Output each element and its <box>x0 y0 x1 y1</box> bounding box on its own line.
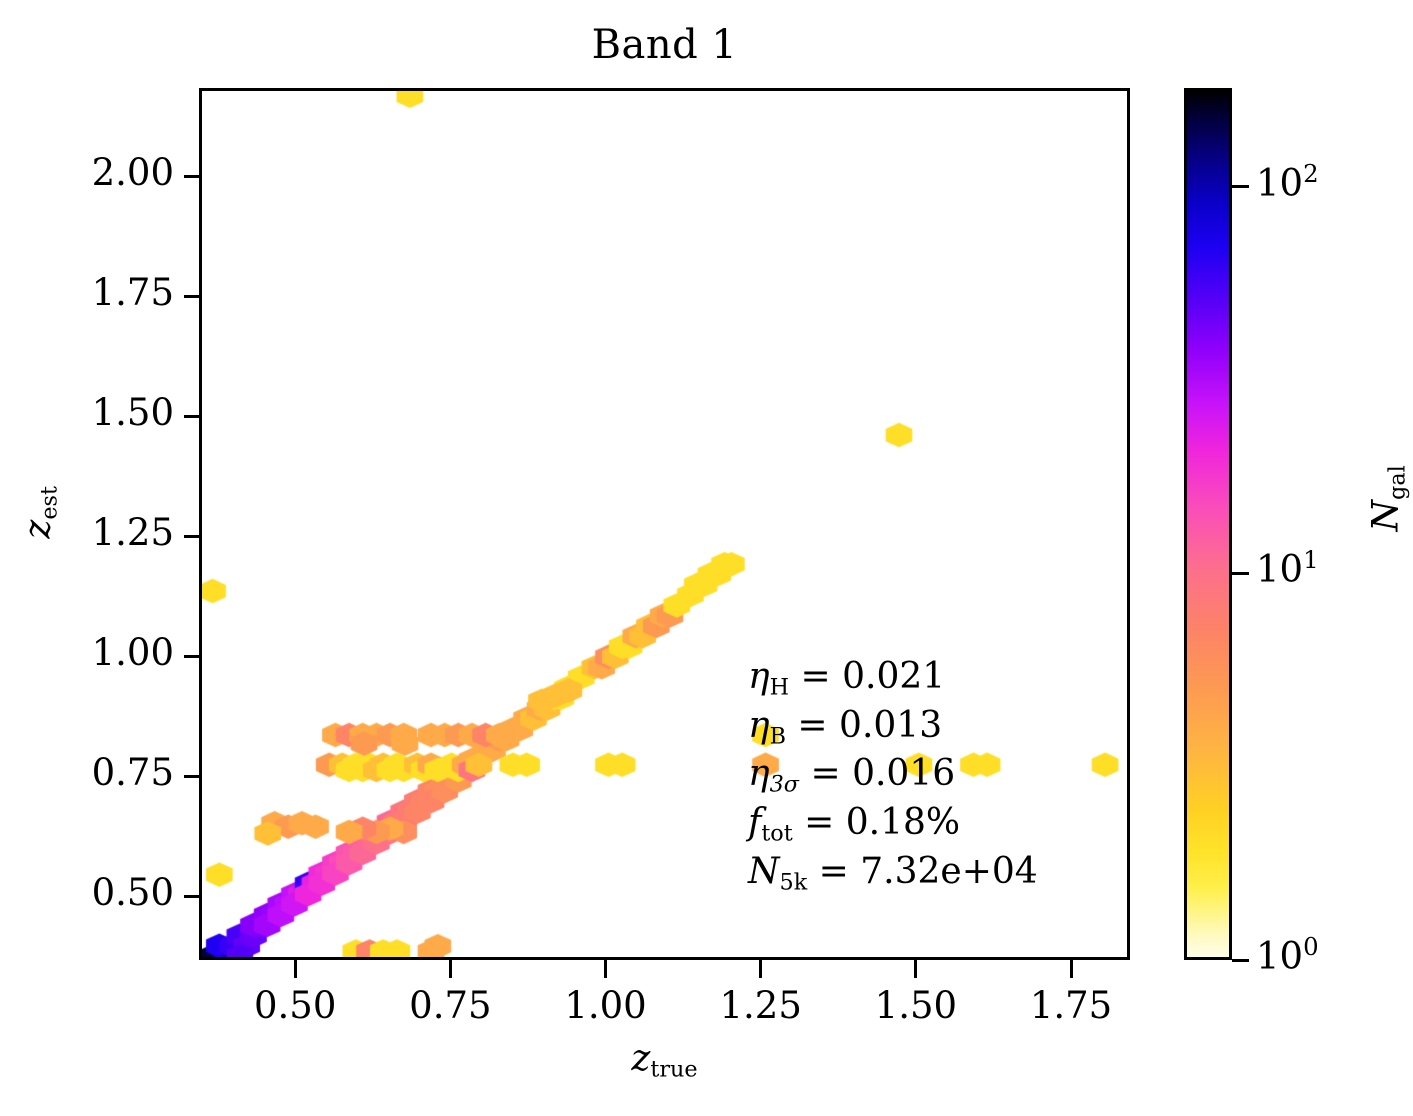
colorbar-tick-label: 101 <box>1256 545 1319 590</box>
colorbar-label: Ngal <box>1366 398 1411 598</box>
x-tick-label: 0.50 <box>215 984 375 1027</box>
page-title: Band 1 <box>199 22 1130 68</box>
y-tick-mark <box>184 295 202 298</box>
stats-line: ηH = 0.021 <box>748 654 1038 703</box>
y-tick-mark <box>184 775 202 778</box>
stats-annotation: ηH = 0.021ηB = 0.013η3σ = 0.016ftot = 0.… <box>748 654 1038 897</box>
colorbar-gradient <box>1184 88 1232 960</box>
x-tick-mark <box>759 960 762 978</box>
x-tick-label: 1.25 <box>681 984 841 1027</box>
x-tick-label: 1.50 <box>836 984 996 1027</box>
figure-canvas: Band 1 0.500.751.001.251.501.752.00 0.50… <box>0 0 1413 1116</box>
x-tick-label: 0.75 <box>370 984 530 1027</box>
y-tick-label: 1.75 <box>34 271 174 314</box>
x-tick-mark <box>604 960 607 978</box>
y-tick-mark <box>184 175 202 178</box>
y-axis-label: zest <box>18 412 63 612</box>
colorbar-tick-label: 102 <box>1256 159 1319 204</box>
colorbar-tick-mark <box>1232 959 1249 962</box>
y-tick-mark <box>184 895 202 898</box>
x-tick-label: 1.00 <box>526 984 686 1027</box>
colorbar-tick-mark <box>1232 185 1249 188</box>
y-tick-label: 1.00 <box>34 631 174 674</box>
stats-line: η3σ = 0.016 <box>748 751 1038 800</box>
y-tick-label: 0.75 <box>34 751 174 794</box>
x-tick-mark <box>294 960 297 978</box>
x-tick-mark <box>1070 960 1073 978</box>
stats-line: N5k = 7.32e+04 <box>748 849 1038 898</box>
x-tick-mark <box>914 960 917 978</box>
stats-line: ftot = 0.18% <box>748 800 1038 849</box>
colorbar-tick-label: 100 <box>1256 932 1319 977</box>
y-tick-mark <box>184 415 202 418</box>
stats-line: ηB = 0.013 <box>748 703 1038 752</box>
x-axis-label: ztrue <box>199 1038 1130 1083</box>
x-tick-mark <box>449 960 452 978</box>
x-tick-label: 1.75 <box>991 984 1151 1027</box>
y-tick-label: 0.50 <box>34 871 174 914</box>
y-tick-label: 2.00 <box>34 151 174 194</box>
colorbar-tick-mark <box>1232 572 1249 575</box>
colorbar: 100101102 <box>1184 88 1232 960</box>
y-tick-mark <box>184 655 202 658</box>
y-tick-mark <box>184 535 202 538</box>
